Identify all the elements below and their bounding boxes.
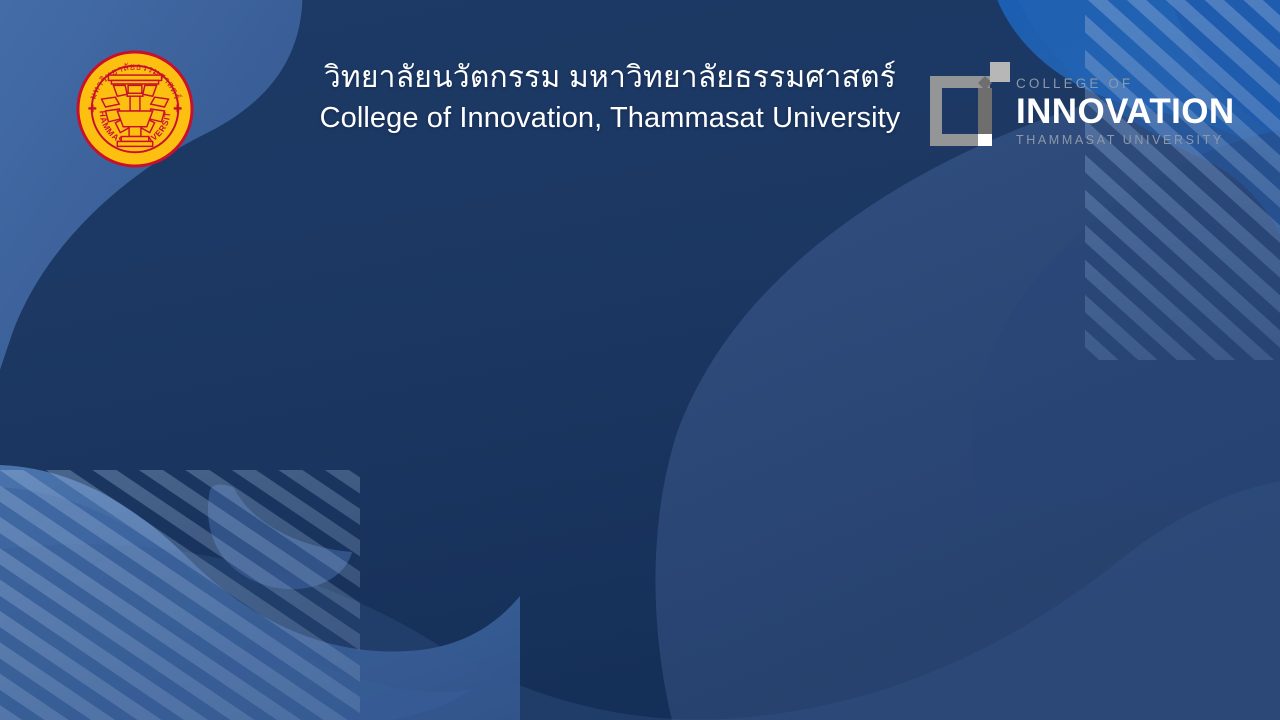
- slide-header: มหาวิทยาลัยธรรมศาสตร์ THAMMASAT UNIVERSI…: [0, 0, 1280, 185]
- coi-line-college-of: COLLEGE OF: [1016, 76, 1234, 91]
- thammasat-seal-logo: มหาวิทยาลัยธรรมศาสตร์ THAMMASAT UNIVERSI…: [76, 50, 194, 168]
- coi-logo-mark-icon: [928, 62, 1010, 150]
- coi-line-innovation: INNOVATION: [1016, 92, 1234, 132]
- slide-content-area: [0, 185, 1280, 720]
- title-thai: วิทยาลัยนวัตกรรม มหาวิทยาลัยธรรมศาสตร์: [230, 58, 990, 98]
- header-titles: วิทยาลัยนวัตกรรม มหาวิทยาลัยธรรมศาสตร์ C…: [230, 58, 990, 138]
- coi-line-thammasat-university: THAMMASAT UNIVERSITY: [1016, 133, 1234, 147]
- thammasat-seal-icon: มหาวิทยาลัยธรรมศาสตร์ THAMMASAT UNIVERSI…: [76, 50, 194, 168]
- college-of-innovation-logo: COLLEGE OF INNOVATION THAMMASAT UNIVERSI…: [928, 58, 1233, 154]
- coi-logo-wordmark: COLLEGE OF INNOVATION THAMMASAT UNIVERSI…: [1016, 76, 1234, 147]
- slide-canvas: มหาวิทยาลัยธรรมศาสตร์ THAMMASAT UNIVERSI…: [0, 0, 1280, 720]
- title-english: College of Innovation, Thammasat Univers…: [230, 98, 990, 138]
